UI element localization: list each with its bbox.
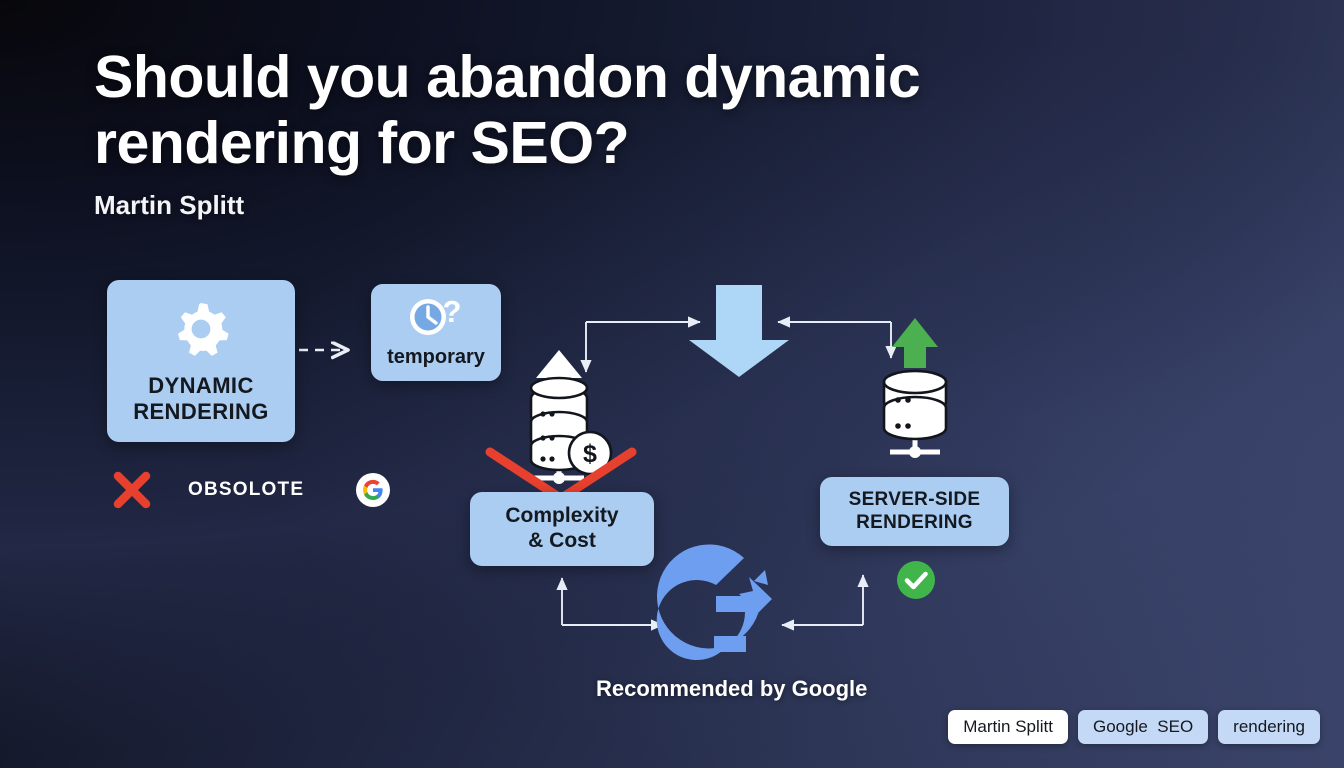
- node-complexity-cost[interactable]: Complexity& Cost: [470, 492, 654, 566]
- svg-text:?: ?: [443, 296, 462, 329]
- red-x-icon: [110, 468, 154, 512]
- title-block: Should you abandon dynamic rendering for…: [94, 44, 974, 221]
- blue-down-arrow-icon: [689, 285, 789, 377]
- tag-row: Martin Splitt Google SEO rendering: [948, 710, 1320, 744]
- node-dynamic-rendering[interactable]: DYNAMICRENDERING: [107, 280, 295, 442]
- green-up-arrow-icon: [892, 318, 938, 368]
- connector-bottom-left: [562, 578, 663, 625]
- google-g-icon: [356, 473, 390, 507]
- connector-top-left: [586, 322, 700, 372]
- google-g-growth-icon: [657, 544, 772, 660]
- tag-topic[interactable]: Google SEO: [1078, 710, 1208, 744]
- node-temporary[interactable]: ? temporary: [371, 284, 501, 381]
- clock-question-icon: ?: [405, 296, 467, 340]
- recommended-label: Recommended by Google: [596, 676, 867, 702]
- tag-speaker[interactable]: Martin Splitt: [948, 710, 1068, 744]
- node-label: DYNAMICRENDERING: [133, 373, 269, 425]
- node-label: temporary: [387, 346, 485, 370]
- node-label: SERVER-SIDERENDERING: [849, 489, 981, 534]
- node-label: Complexity& Cost: [505, 504, 618, 554]
- obsolete-label: OBSOLOTE: [188, 479, 304, 501]
- connector-top-right: [778, 322, 891, 358]
- gear-icon: [169, 297, 233, 361]
- database-icon: [884, 371, 946, 458]
- svg-text:$: $: [583, 440, 597, 468]
- obsolete-annotation: OBSOLOTE: [110, 468, 390, 512]
- node-server-side-rendering[interactable]: SERVER-SIDERENDERING: [820, 477, 1009, 546]
- connector-bottom-right: [782, 575, 863, 625]
- white-up-arrow-icon: [536, 348, 586, 398]
- database-dollar-icon: $: [531, 378, 611, 484]
- author-name: Martin Splitt: [94, 190, 974, 221]
- green-check-icon: [896, 560, 936, 600]
- page-title: Should you abandon dynamic rendering for…: [94, 44, 974, 176]
- tag-keyword[interactable]: rendering: [1218, 710, 1320, 744]
- slide-canvas: Should you abandon dynamic rendering for…: [0, 0, 1344, 768]
